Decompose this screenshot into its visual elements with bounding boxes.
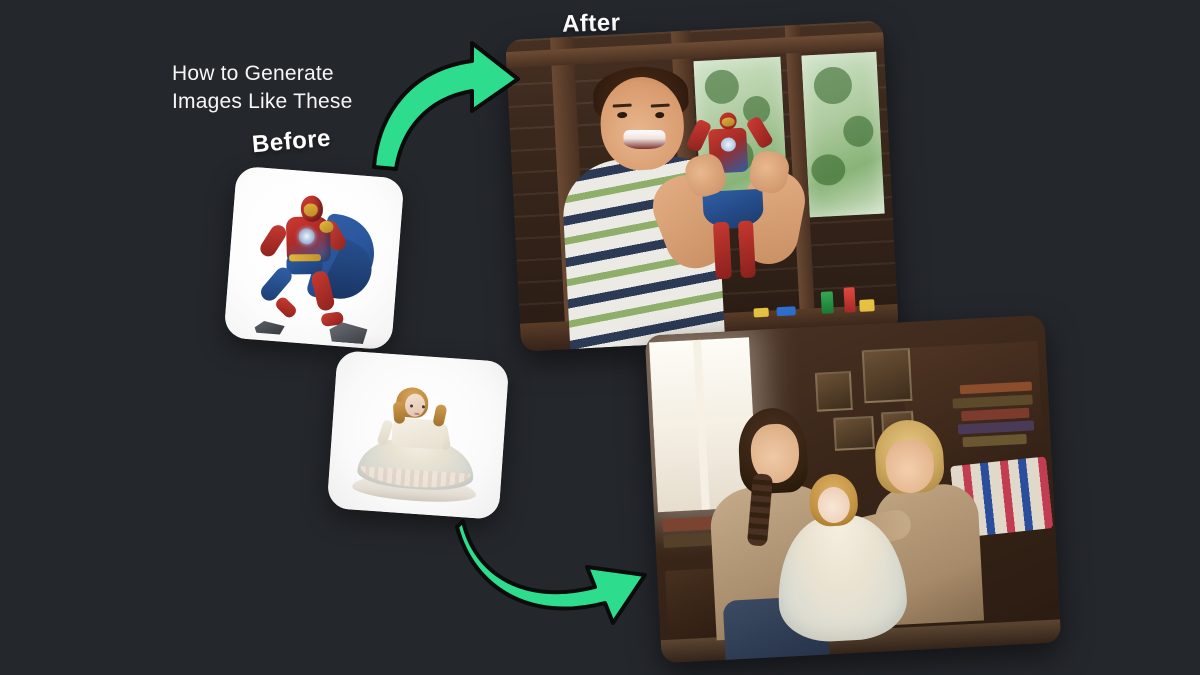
before-card-hero-figure[interactable]: [224, 166, 405, 351]
boy-with-figure-image: [505, 20, 899, 351]
children-with-doll-image: [645, 315, 1062, 663]
arrow-before-to-after-top: [360, 35, 540, 175]
arrow-before-to-after-bottom: [455, 505, 655, 625]
after-photo-children-with-doll[interactable]: [645, 315, 1062, 663]
hero-figure-image: [224, 166, 405, 351]
poster-canvas: How to Generate Images Like These Before…: [0, 0, 1200, 675]
after-photo-boy-with-figure[interactable]: [505, 20, 899, 351]
porcelain-doll-image: [327, 350, 510, 520]
label-before: Before: [251, 125, 332, 160]
before-card-porcelain-doll[interactable]: [327, 350, 510, 520]
